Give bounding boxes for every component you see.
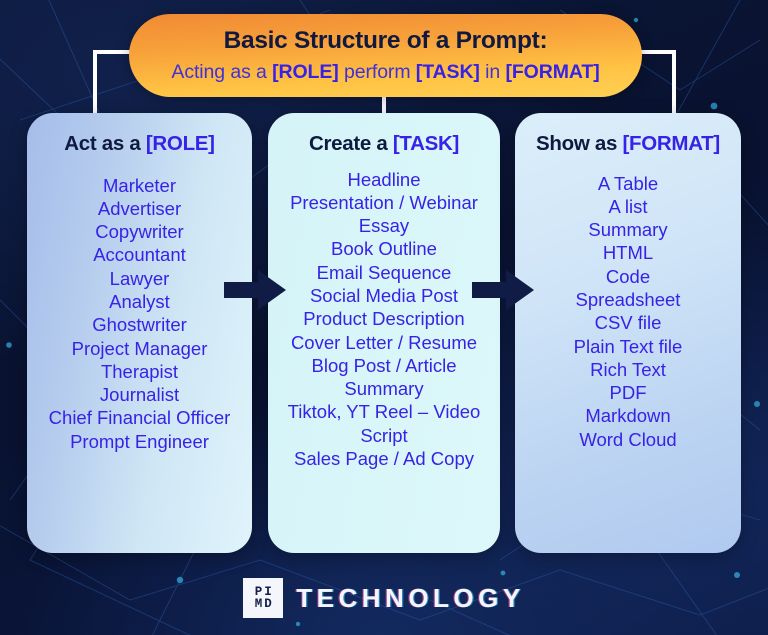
card-task: Create a [TASK] HeadlinePresentation / W… [268, 113, 500, 553]
list-item: Plain Text file [515, 335, 741, 358]
list-item: A Table [515, 172, 741, 195]
list-item: Product Description [268, 307, 500, 330]
list-item: CSV file [515, 311, 741, 334]
banner-text-0: Acting as a [171, 61, 272, 83]
list-item: Summary [268, 377, 500, 400]
card-task-heading-prefix: Create a [309, 132, 393, 155]
card-format-heading-prefix: Show as [536, 132, 622, 155]
banner-token-5: [FORMAT] [505, 61, 599, 83]
card-format-list: A TableA listSummaryHTMLCodeSpreadsheetC… [515, 172, 741, 452]
list-item: Cover Letter / Resume [268, 331, 500, 354]
list-item: Chief Financial Officer [27, 406, 252, 429]
banner-subtitle: Acting as a [ROLE] perform [TASK] in [FO… [171, 63, 599, 83]
banner-text-2: perform [339, 61, 416, 83]
list-item: Headline [268, 168, 500, 191]
list-item: HTML [515, 241, 741, 264]
card-role-list: MarketerAdvertiserCopywriterAccountantLa… [27, 174, 252, 454]
card-format-heading: Show as [FORMAT] [536, 134, 720, 155]
list-item: PDF [515, 381, 741, 404]
list-item: A list [515, 195, 741, 218]
list-item: Advertiser [27, 197, 252, 220]
card-task-heading-token: [TASK] [393, 132, 459, 155]
pimd-logo-icon: PI MD [243, 578, 283, 618]
list-item: Ghostwriter [27, 313, 252, 336]
card-format: Show as [FORMAT] A TableA listSummaryHTM… [515, 113, 741, 553]
arrow-task-to-format-icon [472, 268, 534, 312]
banner-title: Basic Structure of a Prompt: [224, 29, 548, 54]
list-item: Sales Page / Ad Copy [268, 447, 500, 470]
list-item: Markdown [515, 404, 741, 427]
card-task-heading: Create a [TASK] [309, 134, 459, 155]
list-item: Email Sequence [268, 261, 500, 284]
list-item: Spreadsheet [515, 288, 741, 311]
list-item: Project Manager [27, 337, 252, 360]
list-item: Essay [268, 214, 500, 237]
logo-line-2: MD [255, 598, 274, 611]
list-item: Blog Post / Article [268, 354, 500, 377]
card-role-heading: Act as a [ROLE] [64, 134, 214, 155]
list-item: Marketer [27, 174, 252, 197]
card-role: Act as a [ROLE] MarketerAdvertiserCopywr… [27, 113, 252, 553]
list-item: Accountant [27, 243, 252, 266]
list-item: Presentation / Webinar [268, 191, 500, 214]
list-item: Prompt Engineer [27, 430, 252, 453]
list-item: Copywriter [27, 220, 252, 243]
card-format-heading-token: [FORMAT] [623, 132, 720, 155]
banner-token-1: [ROLE] [272, 61, 339, 83]
list-item: Therapist [27, 360, 252, 383]
list-item: Word Cloud [515, 428, 741, 451]
list-item: Code [515, 265, 741, 288]
arrow-role-to-task-icon [224, 268, 286, 312]
card-role-heading-token: [ROLE] [146, 132, 215, 155]
list-item: Tiktok, YT Reel – Video [268, 400, 500, 423]
list-item: Social Media Post [268, 284, 500, 307]
logo-wordmark: TECHNOLOGY [296, 583, 524, 614]
list-item: Lawyer [27, 267, 252, 290]
list-item: Summary [515, 218, 741, 241]
list-item: Analyst [27, 290, 252, 313]
list-item: Book Outline [268, 237, 500, 260]
connector-line-left-vertical [93, 50, 97, 122]
footer-branding: PI MD TECHNOLOGY [0, 576, 768, 620]
title-banner: Basic Structure of a Prompt: Acting as a… [129, 14, 642, 97]
card-role-heading-prefix: Act as a [64, 132, 146, 155]
list-item: Script [268, 424, 500, 447]
banner-token-3: [TASK] [416, 61, 480, 83]
card-task-list: HeadlinePresentation / WebinarEssayBook … [268, 168, 500, 471]
list-item: Rich Text [515, 358, 741, 381]
banner-text-4: in [480, 61, 506, 83]
list-item: Journalist [27, 383, 252, 406]
connector-line-right-vertical [672, 50, 676, 122]
